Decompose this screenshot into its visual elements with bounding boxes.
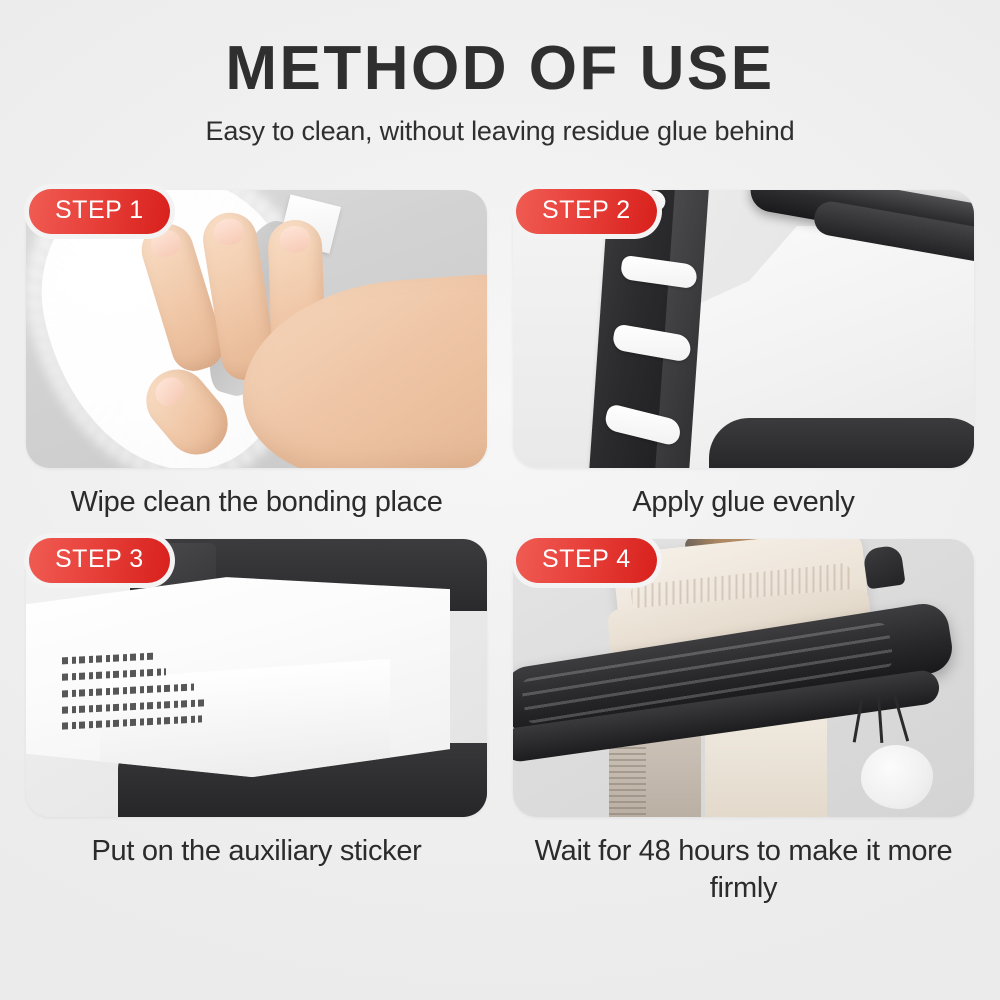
hook-shape [893,695,909,742]
step-2-caption: Apply glue evenly [534,484,954,521]
hook-shape [853,695,864,743]
bath-puff-shape [861,745,933,809]
step-3-caption: Put on the auxiliary sticker [47,833,467,870]
wall-mount-shape [862,545,905,590]
fingernail-shape [279,226,310,253]
fingernail-shape [212,217,246,247]
sticker-text-line [62,668,166,680]
step-card-4: STEP 4 Wait for 48 hours to make it more… [513,539,974,907]
header: METHOD OF USE Easy to clean, without lea… [0,36,1000,147]
hand-shape [122,214,487,468]
infographic-page: METHOD OF USE Easy to clean, without lea… [0,0,1000,1000]
sticker-text-line [62,699,206,714]
step-1-caption: Wipe clean the bonding place [47,484,467,521]
step-badge-4: STEP 4 [511,533,662,588]
sticker-printed-text [62,655,212,735]
sticker-text-line [62,684,194,698]
thumb-shape [134,357,241,467]
step-4-caption: Wait for 48 hours to make it more firmly [534,833,954,907]
step-badge-2: STEP 2 [511,184,662,239]
step-card-1: STEP 1 Wipe clean the bonding place [26,190,487,521]
page-title: METHOD OF USE [0,36,1000,101]
step-badge-1: STEP 1 [24,184,175,239]
hook-shape [877,695,883,743]
step-badge-2-label: STEP 2 [516,189,657,234]
step-badge-3-label: STEP 3 [29,538,170,583]
page-subtitle: Easy to clean, without leaving residue g… [0,115,1000,147]
sticker-text-line [62,715,202,729]
step-badge-3: STEP 3 [24,533,175,588]
step-card-3: STEP 3 Put on the auxiliary sticker [26,539,487,907]
step-badge-4-label: STEP 4 [516,538,657,583]
rack-tray-shape [709,418,974,468]
step-card-2: STEP 2 Apply glue evenly [513,190,974,521]
steps-grid: STEP 1 Wipe clean the bonding place STEP… [26,190,974,907]
sticker-text-line [62,653,154,665]
fingernail-shape [150,372,190,411]
step-badge-1-label: STEP 1 [29,189,170,234]
